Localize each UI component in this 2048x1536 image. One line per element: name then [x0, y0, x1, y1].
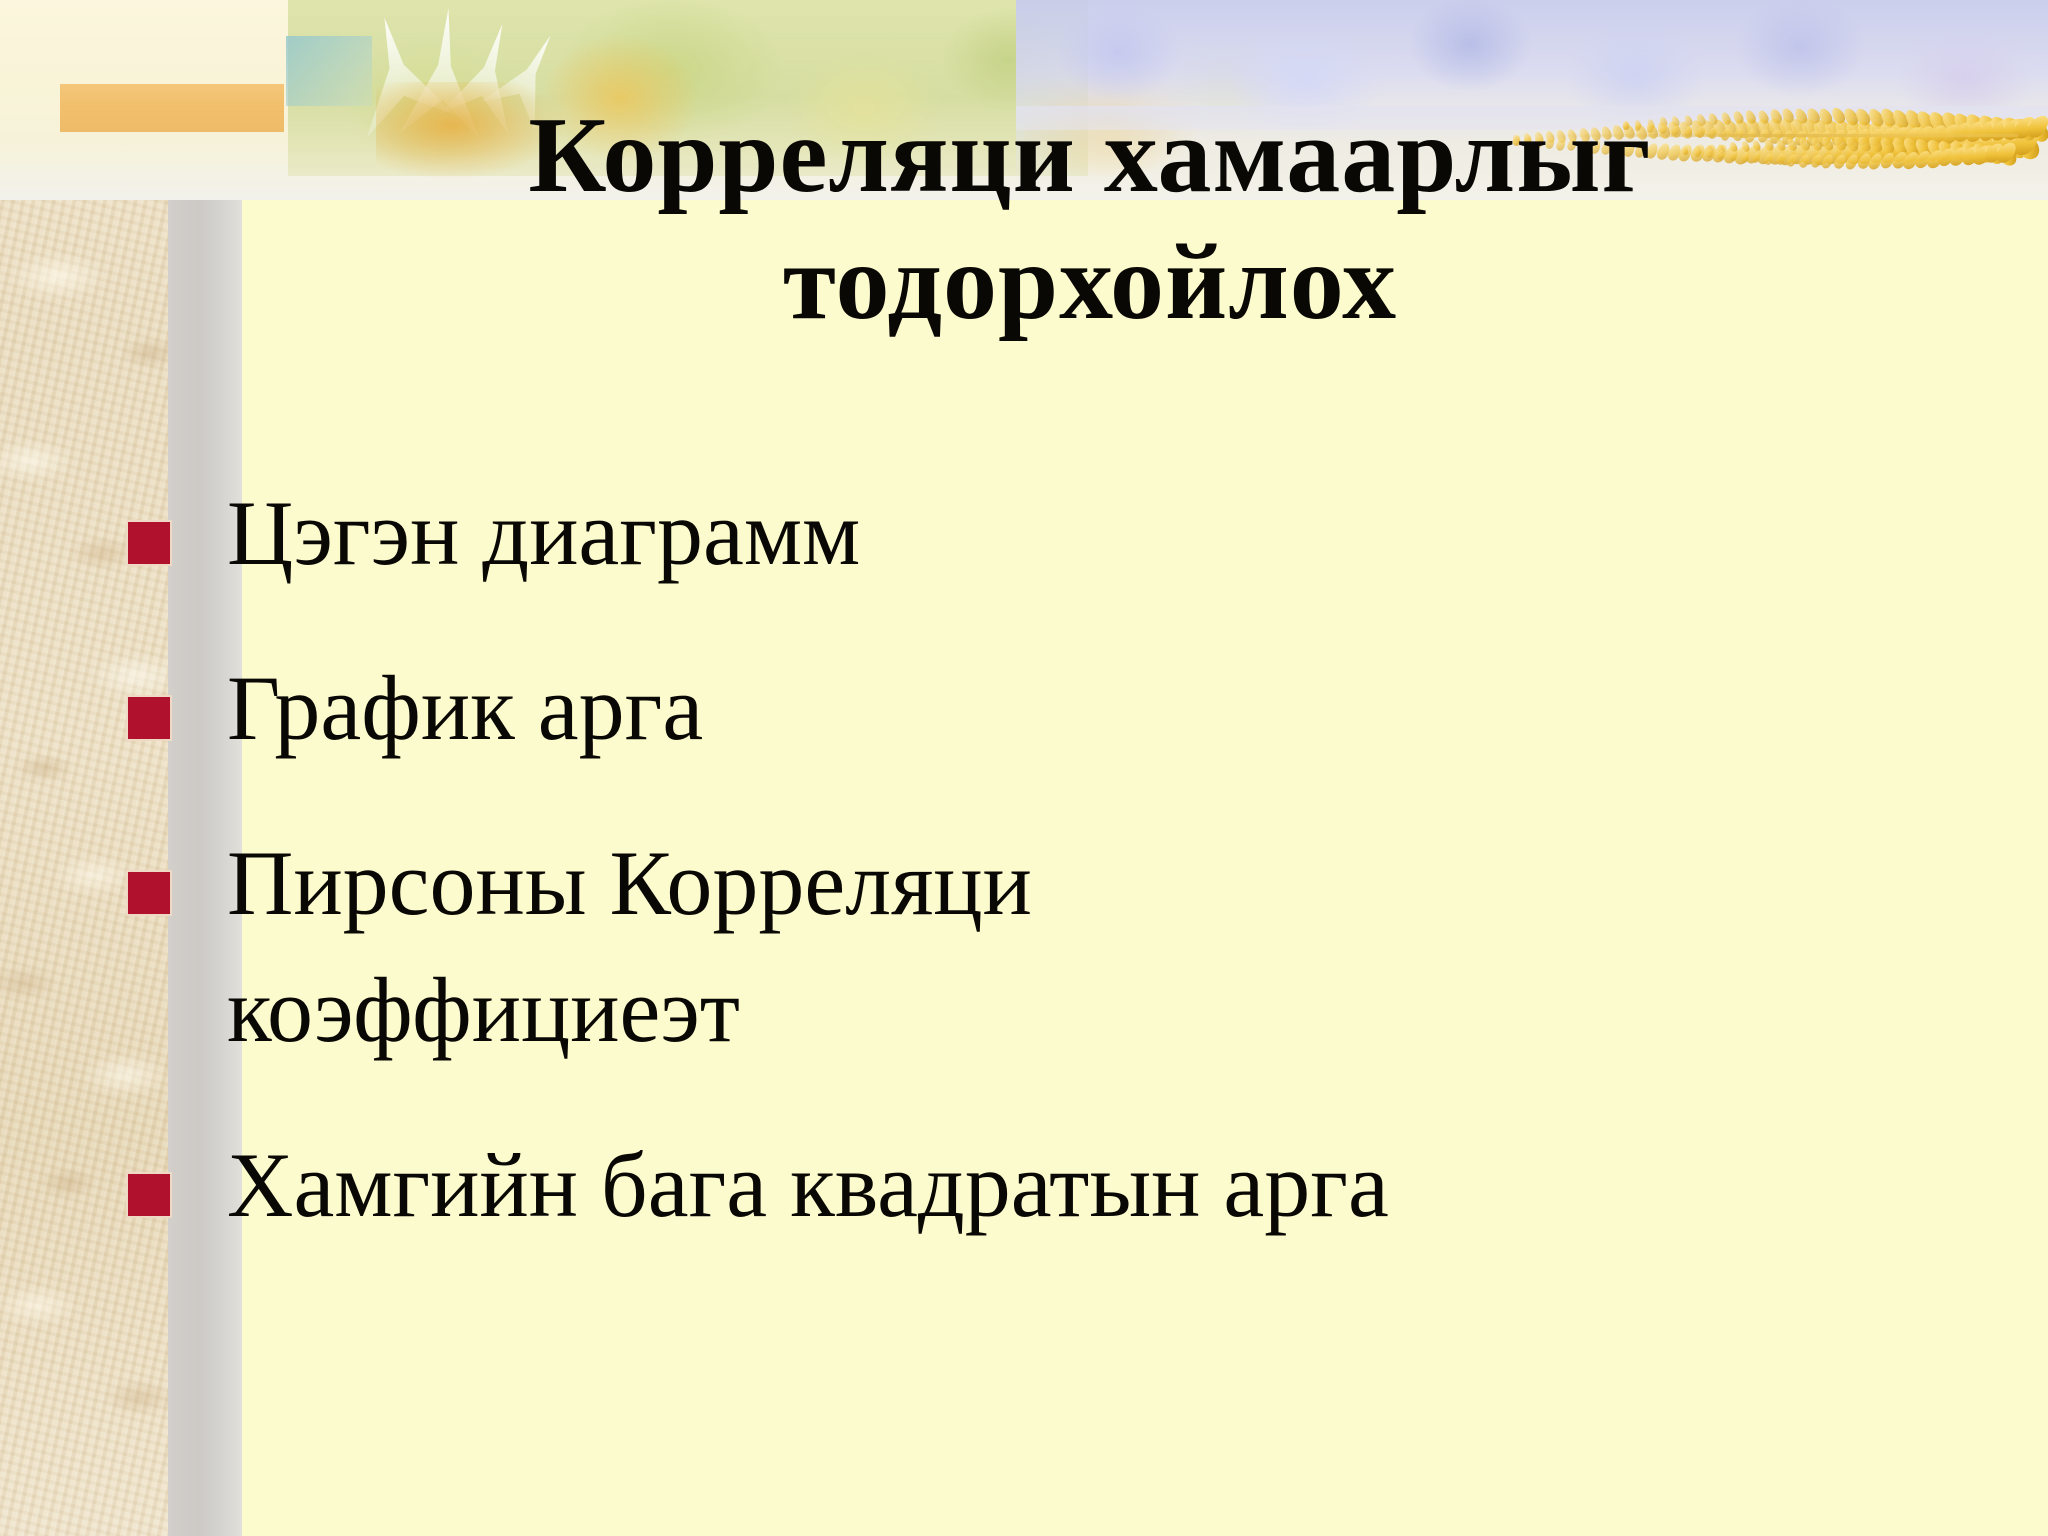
list-item-label: Цэгэн диаграмм [227, 470, 2048, 597]
title-line-1: Корреляци хамаарлыг [240, 92, 1940, 219]
bullet-square-icon [126, 1172, 172, 1218]
list-item[interactable]: График арга [0, 645, 2048, 772]
list-item[interactable]: Хамгийн бага квадратын арга [0, 1122, 2048, 1249]
bullet-square-icon [126, 520, 172, 566]
list-item-label: Пирсоны Корреляци коэффициеэт [227, 820, 2048, 1074]
bullet-square-icon [126, 695, 172, 741]
bullet-square-icon [126, 870, 172, 916]
title-line-2: тодорхойлох [240, 219, 1940, 346]
list-item[interactable]: Пирсоны Корреляци коэффициеэт [0, 820, 2048, 1074]
list-item-label: Хамгийн бага квадратын арга [227, 1122, 2048, 1249]
bullet-list: Цэгэн диаграмм График арга Пирсоны Корре… [0, 470, 2048, 1297]
list-item-label-line2: коэффициеэт [227, 947, 1988, 1074]
list-item[interactable]: Цэгэн диаграмм [0, 470, 2048, 597]
list-item-label: График арга [227, 645, 2048, 772]
page-title: Корреляци хамаарлыг тодорхойлох [240, 92, 1940, 347]
presentation-slide: Корреляци хамаарлыг тодорхойлох Цэгэн ди… [0, 0, 2048, 1536]
list-item-label-line1: Пирсоны Корреляци [227, 832, 1032, 934]
